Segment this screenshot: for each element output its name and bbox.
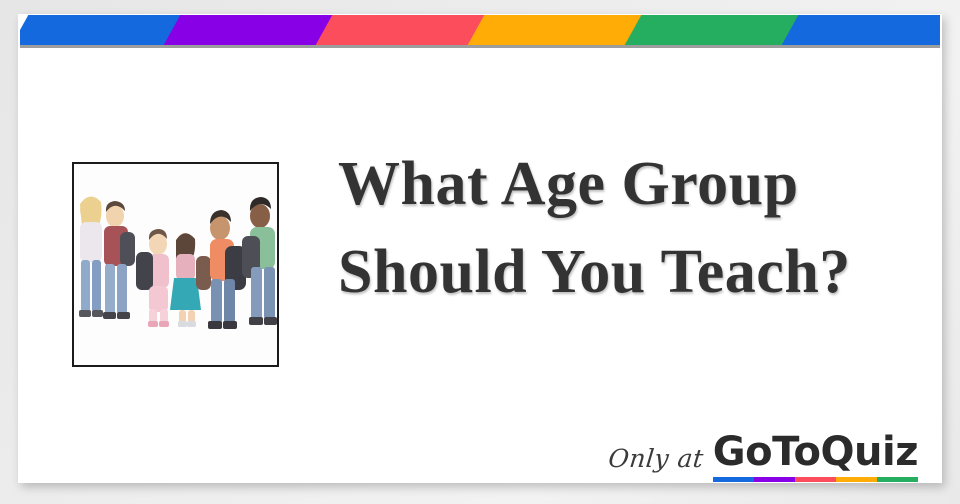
top-color-ribbon bbox=[20, 15, 940, 45]
brand-block: Only at GoToQuiz bbox=[608, 431, 918, 482]
brand-underline bbox=[713, 477, 918, 482]
brand-underline-segment-2 bbox=[754, 477, 795, 482]
brand-underline-segment-5 bbox=[877, 477, 918, 482]
title-line-2: Should You Teach? bbox=[338, 228, 918, 316]
ribbon-segment-blue2 bbox=[779, 15, 940, 45]
ribbon-divider-line bbox=[20, 45, 940, 48]
brand-underline-segment-4 bbox=[836, 477, 877, 482]
page-title: What Age Group Should You Teach? bbox=[338, 140, 918, 316]
title-line-1: What Age Group bbox=[338, 140, 918, 228]
brand-name-label: GoToQuiz bbox=[713, 431, 918, 473]
brand-underline-segment-1 bbox=[713, 477, 754, 482]
students-photo bbox=[74, 164, 277, 365]
students-photo-illustration bbox=[74, 164, 277, 365]
quiz-thumbnail bbox=[72, 162, 279, 367]
slide-canvas: What Age Group Should You Teach? Only at… bbox=[0, 0, 960, 504]
brand-only-at-label: Only at bbox=[606, 444, 705, 482]
brand-underline-segment-3 bbox=[795, 477, 836, 482]
brand-logo[interactable]: GoToQuiz bbox=[713, 431, 918, 482]
